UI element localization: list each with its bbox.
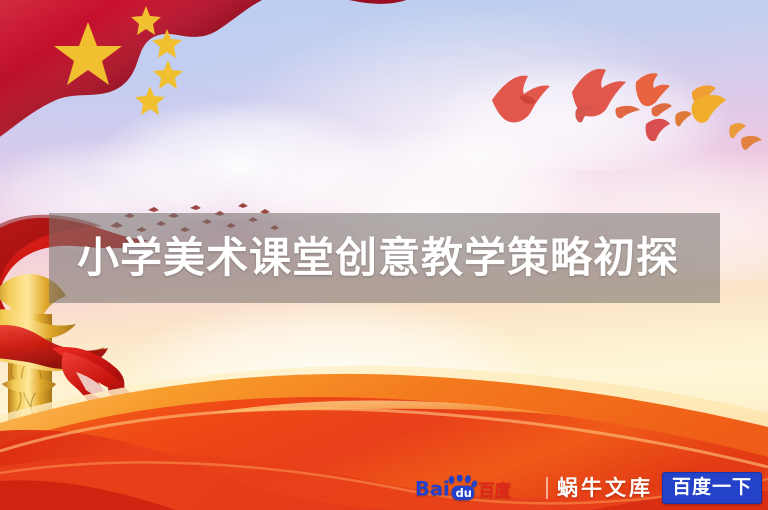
page-title: 小学美术课堂创意教学策略初探: [49, 237, 679, 279]
watermark-bar: Bai du 百度 蜗牛文库 百度一下: [415, 471, 762, 505]
title-banner: 小学美术课堂创意教学策略初探: [49, 213, 720, 303]
baidu-logo[interactable]: Bai du 百度: [415, 475, 537, 501]
svg-text:Bai: Bai: [415, 477, 450, 500]
poster-canvas: 小学美术课堂创意教学策略初探 Bai du 百度: [0, 0, 768, 510]
svg-text:百度: 百度: [478, 481, 511, 500]
baidu-search-button[interactable]: 百度一下: [662, 472, 762, 504]
flying-birds-flock: [480, 40, 768, 175]
svg-text:du: du: [456, 486, 472, 500]
watermark-divider: [546, 477, 548, 499]
brand-name: 蜗牛文库: [557, 478, 653, 499]
chinese-flag: [0, 0, 430, 200]
